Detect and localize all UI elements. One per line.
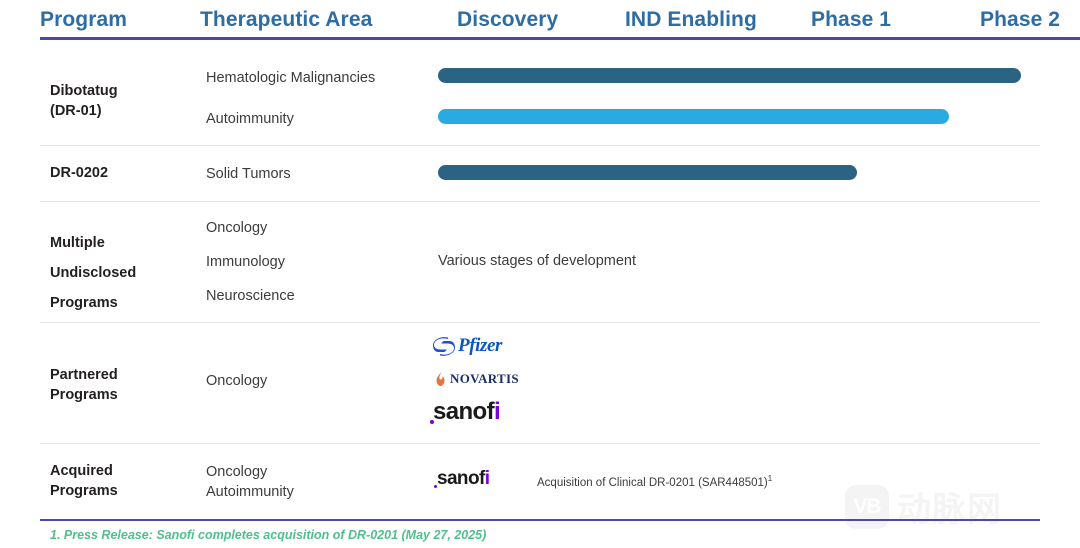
column-header-discovery: Discovery bbox=[457, 8, 558, 32]
footer-divider bbox=[40, 519, 1040, 521]
column-header-program: Program bbox=[40, 8, 127, 32]
table-row: Multiple Undisclosed Programs Oncology I… bbox=[0, 202, 1080, 322]
acquisition-note-text: Acquisition of Clinical DR-0201 (SAR4485… bbox=[537, 477, 768, 489]
novartis-flame-icon bbox=[435, 372, 446, 386]
sanofi-wordmark-rest: anof bbox=[447, 468, 485, 489]
novartis-wordmark: NOVARTIS bbox=[450, 371, 519, 387]
table-row: Partnered Programs Oncology Pfizer NOVAR… bbox=[0, 323, 1080, 443]
column-header-therapeutic-area: Therapeutic Area bbox=[200, 8, 372, 32]
watermark: VB 动脉网 bbox=[845, 482, 1002, 531]
table-row: Dibotatug (DR-01) Hematologic Malignanci… bbox=[0, 55, 1080, 143]
acquisition-note-superscript: 1 bbox=[768, 474, 772, 483]
table-row: DR-0202 Solid Tumors bbox=[0, 146, 1080, 201]
status-note-various-stages: Various stages of development bbox=[438, 253, 636, 269]
watermark-text: 动脉网 bbox=[897, 482, 1002, 531]
program-name-multiple-undisclosed: Multiple Undisclosed Programs bbox=[50, 228, 136, 318]
program-name-acquired: Acquired Programs bbox=[50, 461, 118, 501]
therapeutic-area-solid-tumors: Solid Tumors bbox=[206, 163, 291, 185]
pipeline-chart: Program Therapeutic Area Discovery IND E… bbox=[0, 0, 1080, 548]
therapeutic-area-partnered: Oncology bbox=[206, 370, 267, 392]
therapeutic-area-autoimmunity: Autoimmunity bbox=[206, 108, 294, 130]
sanofi-wordmark-s: s bbox=[433, 398, 446, 425]
watermark-badge: VB bbox=[845, 485, 889, 529]
column-header-phase-2: Phase 2 bbox=[980, 8, 1060, 32]
footnote: 1. Press Release: Sanofi completes acqui… bbox=[50, 528, 486, 542]
sanofi-dot-icon bbox=[434, 485, 437, 488]
partner-logo-novartis: NOVARTIS bbox=[435, 371, 519, 387]
pfizer-wordmark: Pfizer bbox=[458, 335, 502, 357]
program-name-partnered: Partnered Programs bbox=[50, 365, 118, 405]
phase-bar-solid-tumors bbox=[438, 165, 857, 180]
header-divider bbox=[40, 37, 1080, 40]
acquisition-note: Acquisition of Clinical DR-0201 (SAR4485… bbox=[537, 474, 772, 489]
partner-logo-pfizer: Pfizer bbox=[433, 335, 502, 357]
therapeutic-areas-undisclosed: Oncology Immunology Neuroscience bbox=[206, 220, 295, 305]
partner-logo-sanofi: sanofi bbox=[433, 398, 1080, 426]
column-header-phase-1: Phase 1 bbox=[811, 8, 891, 32]
therapeutic-areas-acquired: Oncology Autoimmunity bbox=[206, 462, 294, 502]
sanofi-wordmark-i: i bbox=[485, 468, 490, 489]
phase-bar-hematologic-malignancies bbox=[438, 68, 1021, 83]
pfizer-mark-icon bbox=[433, 337, 455, 356]
program-name-dr-0202: DR-0202 bbox=[50, 163, 108, 183]
sanofi-wordmark-rest: anof bbox=[446, 398, 494, 425]
column-header-ind-enabling: IND Enabling bbox=[625, 8, 757, 32]
sanofi-wordmark-s: s bbox=[437, 468, 447, 489]
program-name-dibotatug: Dibotatug (DR-01) bbox=[50, 81, 118, 121]
sanofi-dot-icon bbox=[430, 420, 434, 424]
phase-bar-autoimmunity bbox=[438, 109, 949, 124]
column-header-row: Program Therapeutic Area Discovery IND E… bbox=[0, 0, 1080, 36]
therapeutic-area-hematologic-malignancies: Hematologic Malignancies bbox=[206, 67, 375, 89]
sanofi-wordmark-i: i bbox=[494, 398, 500, 425]
